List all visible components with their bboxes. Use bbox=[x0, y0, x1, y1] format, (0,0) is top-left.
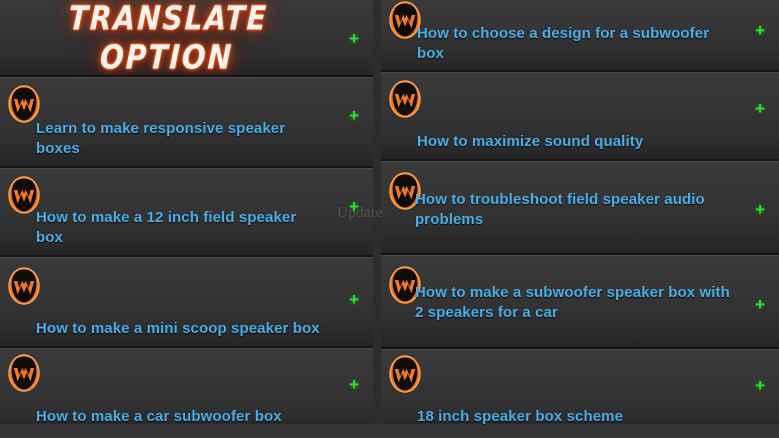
list-item[interactable]: How to make a 12 inch field speaker box … bbox=[0, 168, 373, 257]
plus-icon[interactable]: + bbox=[755, 296, 765, 313]
w-logo-icon bbox=[8, 354, 40, 392]
logo-text-spacer bbox=[381, 190, 415, 212]
list-item[interactable]: How to troubleshoot field speaker audio … bbox=[381, 161, 779, 255]
list-item-label: How to make a 12 inch field speaker box bbox=[0, 208, 373, 248]
page-title-wrap: TRANSLATE OPTION bbox=[0, 5, 373, 71]
header-row: TRANSLATE OPTION + bbox=[0, 0, 373, 77]
plus-icon[interactable]: + bbox=[755, 100, 765, 117]
plus-icon[interactable]: + bbox=[349, 376, 359, 393]
plus-icon[interactable]: + bbox=[755, 377, 765, 394]
add-icon-header[interactable]: + bbox=[349, 30, 359, 47]
column-divider bbox=[373, 0, 381, 438]
list-item[interactable]: How to choose a design for a subwoofer b… bbox=[381, 0, 779, 72]
list-item[interactable]: How to make a car subwoofer box + bbox=[0, 348, 373, 438]
list-item[interactable]: How to make a subwoofer speaker box with… bbox=[381, 255, 779, 349]
list-item-label: How to maximize sound quality bbox=[381, 132, 693, 152]
w-logo-icon bbox=[8, 267, 40, 305]
list-item-label: Learn to make responsive speaker boxes bbox=[0, 119, 373, 159]
list-item-label: How to make a mini scoop speaker box bbox=[0, 319, 370, 339]
list-item-label: How to choose a design for a subwoofer b… bbox=[381, 24, 779, 64]
logo-text-spacer bbox=[381, 283, 415, 305]
translate-option-page: TRANSLATE OPTION + Learn to make respons… bbox=[0, 0, 779, 438]
page-title: TRANSLATE OPTION bbox=[0, 0, 337, 76]
list-item[interactable]: How to maximize sound quality + bbox=[381, 72, 779, 161]
left-column: TRANSLATE OPTION + Learn to make respons… bbox=[0, 0, 373, 438]
list-item-label: How to make a subwoofer speaker box with… bbox=[381, 283, 779, 323]
plus-icon[interactable]: + bbox=[349, 107, 359, 124]
list-item-label: 18 inch speaker box scheme bbox=[381, 407, 673, 427]
w-logo-icon bbox=[389, 355, 421, 393]
list-item-label-text: How to troubleshoot field speaker audio … bbox=[415, 191, 705, 228]
list-item-label: How to make a car subwoofer box bbox=[0, 407, 332, 427]
plus-icon[interactable]: + bbox=[349, 291, 359, 308]
list-item-label-text: How to make a subwoofer speaker box with… bbox=[415, 284, 730, 321]
right-column: How to choose a design for a subwoofer b… bbox=[381, 0, 779, 438]
plus-icon[interactable]: + bbox=[755, 22, 765, 39]
plus-icon[interactable]: + bbox=[755, 201, 765, 218]
list-item[interactable]: How to make a mini scoop speaker box + bbox=[0, 257, 373, 348]
list-item-label: How to troubleshoot field speaker audio … bbox=[381, 190, 779, 230]
w-logo-icon bbox=[8, 85, 40, 123]
list-item[interactable]: Learn to make responsive speaker boxes + bbox=[0, 77, 373, 168]
w-logo-icon bbox=[389, 80, 421, 118]
plus-icon[interactable]: + bbox=[349, 198, 359, 215]
